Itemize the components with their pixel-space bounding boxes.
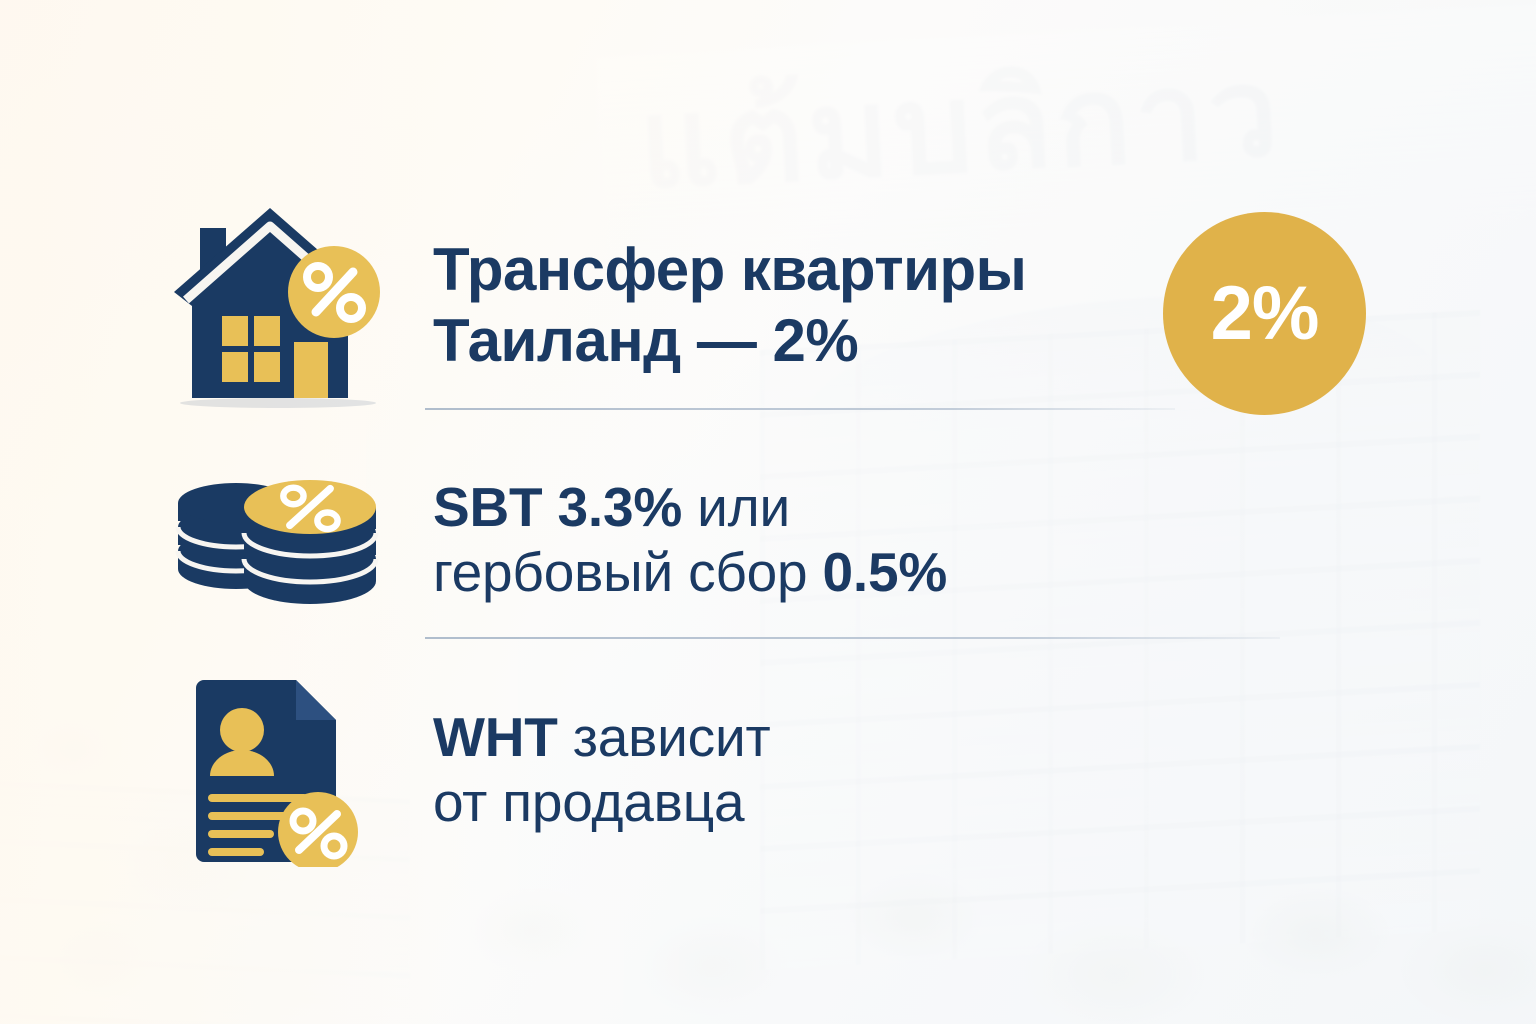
house-percent-icon — [170, 200, 385, 412]
fee-row-transfer-line-2: Таиланд — 2% — [433, 306, 1026, 377]
divider-transfer-sbt — [425, 408, 1175, 410]
transfer-fee-badge: 2% — [1163, 212, 1366, 415]
fee-row-wht-text: WHT зависит от продавца — [433, 705, 770, 835]
fee-row-sbt-line-1: SBT 3.3% или — [433, 475, 947, 540]
fee-row-transfer-text: Трансфер квартиры Таиланд — 2% — [433, 235, 1026, 377]
infographic-canvas: แต้มบลิกาว — [0, 0, 1536, 1024]
coins-percent-icon — [170, 465, 385, 615]
fee-row-wht-line-1: WHT зависит — [433, 705, 770, 770]
fee-row-wht: WHT зависит от продавца — [170, 672, 1230, 867]
fee-row-wht-line-2: от продавца — [433, 770, 770, 835]
fee-row-sbt-line-2: гербовый сбор 0.5% — [433, 540, 947, 605]
fee-row-transfer: Трансфер квартиры Таиланд — 2% — [170, 198, 1190, 413]
fee-row-transfer-line-1: Трансфер квартиры — [433, 235, 1026, 306]
fee-row-sbt: SBT 3.3% или гербовый сбор 0.5% — [170, 445, 1230, 635]
divider-sbt-wht — [425, 637, 1280, 639]
document-person-percent-icon — [170, 672, 385, 867]
fee-row-sbt-text: SBT 3.3% или гербовый сбор 0.5% — [433, 475, 947, 605]
transfer-fee-badge-value: 2% — [1211, 270, 1319, 357]
content-layer: Трансфер квартиры Таиланд — 2% — [0, 0, 1536, 1024]
